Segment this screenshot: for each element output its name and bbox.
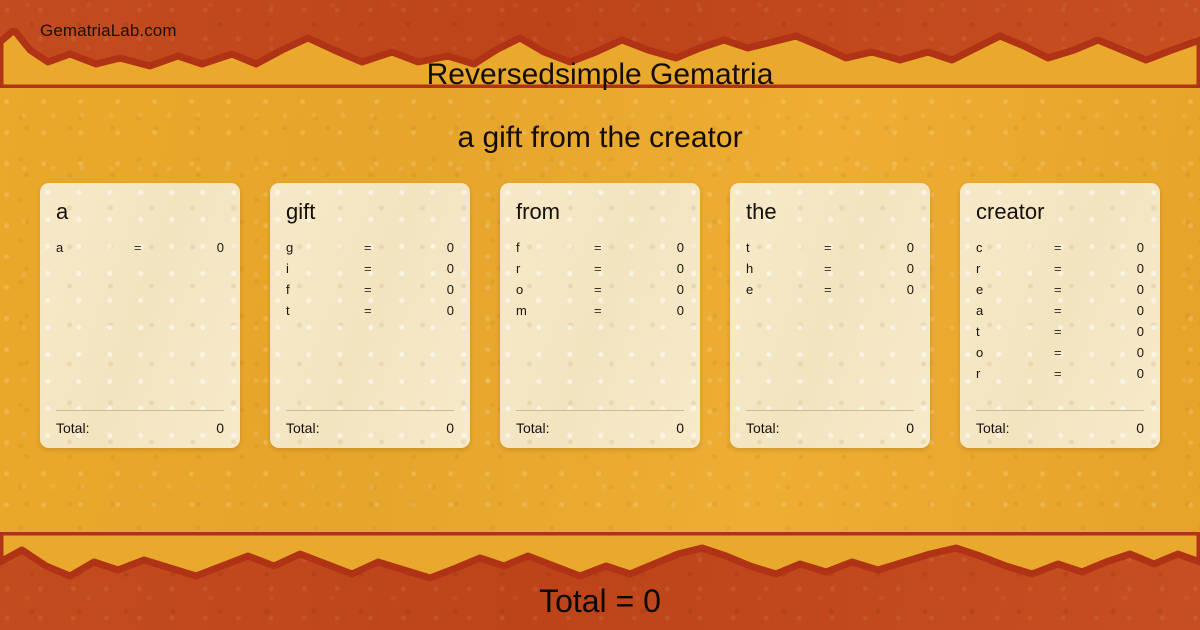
card-divider [976, 410, 1144, 411]
card-total-label: Total: [516, 420, 549, 436]
word-card: thet=0h=0e=0Total:0 [730, 183, 930, 448]
card-word-title: gift [286, 201, 454, 223]
letter-row: a=0 [976, 300, 1144, 321]
equals-sign: = [1054, 324, 1098, 339]
letter-row: o=0 [516, 279, 684, 300]
letter-row: o=0 [976, 342, 1144, 363]
letter-value: 0 [638, 303, 684, 318]
letter-char: g [286, 240, 364, 255]
equals-sign: = [594, 282, 638, 297]
letter-char: o [976, 345, 1054, 360]
equals-sign: = [364, 261, 408, 276]
card-total-row: Total:0 [976, 420, 1144, 436]
card-divider [56, 410, 224, 411]
letter-value: 0 [638, 240, 684, 255]
word-card-list: aa=0Total:0giftg=0i=0f=0t=0Total:0fromf=… [40, 183, 1160, 448]
card-total-value: 0 [676, 420, 684, 436]
letter-value-list: t=0h=0e=0 [746, 237, 914, 300]
letter-char: f [286, 282, 364, 297]
letter-value: 0 [638, 282, 684, 297]
equals-sign: = [364, 303, 408, 318]
card-total-row: Total:0 [516, 420, 684, 436]
letter-char: i [286, 261, 364, 276]
letter-value: 0 [1098, 240, 1144, 255]
letter-value: 0 [1098, 345, 1144, 360]
letter-row: t=0 [746, 237, 914, 258]
letter-char: c [976, 240, 1054, 255]
card-total-footer: Total:0 [286, 410, 454, 436]
letter-char: t [976, 324, 1054, 339]
card-divider [286, 410, 454, 411]
letter-char: m [516, 303, 594, 318]
card-total-row: Total:0 [56, 420, 224, 436]
card-total-footer: Total:0 [56, 410, 224, 436]
letter-row: e=0 [746, 279, 914, 300]
letter-row: t=0 [976, 321, 1144, 342]
letter-char: e [976, 282, 1054, 297]
letter-value: 0 [408, 240, 454, 255]
card-total-label: Total: [976, 420, 1009, 436]
card-total-label: Total: [56, 420, 89, 436]
letter-row: m=0 [516, 300, 684, 321]
letter-value: 0 [1098, 324, 1144, 339]
letter-char: r [976, 366, 1054, 381]
word-card: fromf=0r=0o=0m=0Total:0 [500, 183, 700, 448]
equals-sign: = [1054, 345, 1098, 360]
page-background: GematriaLab.com Reversedsimple Gematria … [0, 0, 1200, 630]
letter-value: 0 [638, 261, 684, 276]
card-total-value: 0 [1136, 420, 1144, 436]
letter-char: t [286, 303, 364, 318]
equals-sign: = [1054, 282, 1098, 297]
letter-value: 0 [868, 282, 914, 297]
letter-row: f=0 [516, 237, 684, 258]
letter-value-list: g=0i=0f=0t=0 [286, 237, 454, 321]
card-word-title: the [746, 201, 914, 223]
card-divider [746, 410, 914, 411]
equals-sign: = [134, 240, 178, 255]
letter-row: h=0 [746, 258, 914, 279]
letter-row: e=0 [976, 279, 1144, 300]
letter-row: i=0 [286, 258, 454, 279]
letter-value-list: f=0r=0o=0m=0 [516, 237, 684, 321]
card-total-label: Total: [286, 420, 319, 436]
cipher-title: Reversedsimple Gematria [0, 58, 1200, 92]
letter-value: 0 [1098, 303, 1144, 318]
card-word-title: creator [976, 201, 1144, 223]
equals-sign: = [1054, 303, 1098, 318]
equals-sign: = [1054, 366, 1098, 381]
site-logo[interactable]: GematriaLab.com [40, 21, 177, 41]
card-total-value: 0 [906, 420, 914, 436]
letter-value: 0 [408, 261, 454, 276]
letter-value: 0 [868, 261, 914, 276]
equals-sign: = [824, 282, 868, 297]
letter-row: r=0 [976, 258, 1144, 279]
phrase-heading: a gift from the creator [0, 121, 1200, 155]
letter-row: r=0 [976, 363, 1144, 384]
equals-sign: = [364, 240, 408, 255]
letter-row: g=0 [286, 237, 454, 258]
equals-sign: = [1054, 261, 1098, 276]
card-total-label: Total: [746, 420, 779, 436]
card-divider [516, 410, 684, 411]
letter-value: 0 [1098, 366, 1144, 381]
equals-sign: = [1054, 240, 1098, 255]
letter-char: a [976, 303, 1054, 318]
word-card: creatorc=0r=0e=0a=0t=0o=0r=0Total:0 [960, 183, 1160, 448]
word-card: giftg=0i=0f=0t=0Total:0 [270, 183, 470, 448]
letter-value: 0 [178, 240, 224, 255]
word-card: aa=0Total:0 [40, 183, 240, 448]
letter-value: 0 [408, 282, 454, 297]
equals-sign: = [594, 261, 638, 276]
card-word-title: from [516, 201, 684, 223]
equals-sign: = [364, 282, 408, 297]
card-total-value: 0 [216, 420, 224, 436]
letter-row: t=0 [286, 300, 454, 321]
letter-row: r=0 [516, 258, 684, 279]
card-total-footer: Total:0 [516, 410, 684, 436]
equals-sign: = [594, 303, 638, 318]
letter-char: o [516, 282, 594, 297]
letter-value: 0 [1098, 261, 1144, 276]
card-total-row: Total:0 [746, 420, 914, 436]
equals-sign: = [594, 240, 638, 255]
letter-char: r [516, 261, 594, 276]
letter-value-list: a=0 [56, 237, 224, 258]
equals-sign: = [824, 240, 868, 255]
letter-value-list: c=0r=0e=0a=0t=0o=0r=0 [976, 237, 1144, 384]
letter-char: r [976, 261, 1054, 276]
letter-row: c=0 [976, 237, 1144, 258]
card-total-value: 0 [446, 420, 454, 436]
letter-char: e [746, 282, 824, 297]
letter-value: 0 [408, 303, 454, 318]
letter-char: f [516, 240, 594, 255]
letter-row: a=0 [56, 237, 224, 258]
letter-char: t [746, 240, 824, 255]
letter-value: 0 [1098, 282, 1144, 297]
grand-total: Total = 0 [0, 583, 1200, 620]
letter-row: f=0 [286, 279, 454, 300]
letter-char: a [56, 240, 134, 255]
card-total-row: Total:0 [286, 420, 454, 436]
card-word-title: a [56, 201, 224, 223]
card-total-footer: Total:0 [746, 410, 914, 436]
equals-sign: = [824, 261, 868, 276]
letter-char: h [746, 261, 824, 276]
card-total-footer: Total:0 [976, 410, 1144, 436]
letter-value: 0 [868, 240, 914, 255]
